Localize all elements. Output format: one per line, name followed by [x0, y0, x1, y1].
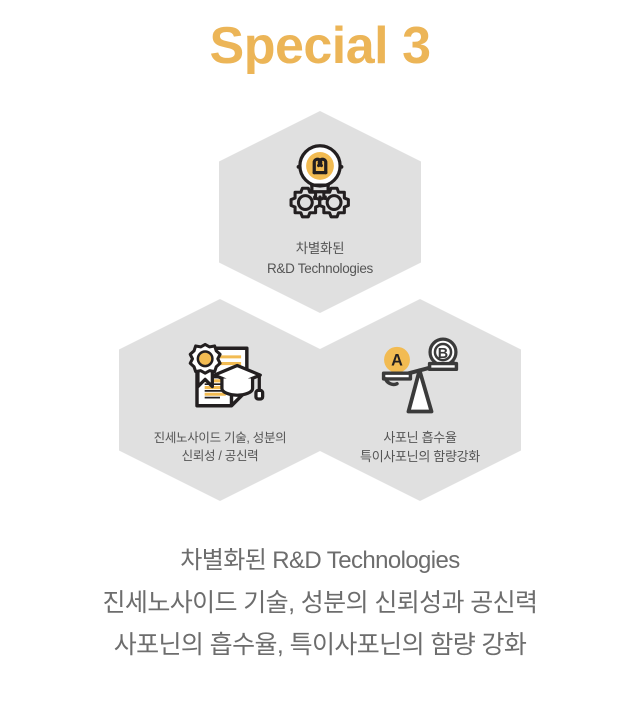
svg-text:B: B [438, 346, 448, 362]
hexagon-label-saponin: 사포닌 흡수율 특이사포닌의 함량강화 [325, 429, 515, 467]
caption-line-2: 진세노사이드 기술, 성분의 신뢰성과 공신력 [0, 582, 640, 624]
hexagon-card-ginsenoside[interactable]: 진세노사이드 기술, 성분의 신뢰성 / 공신력 [119, 299, 321, 501]
hexagon-card-saponin[interactable]: A B 사포닌 흡수율 특이사포닌의 함량강화 [319, 299, 521, 501]
certificate-graduation-cap-icon [172, 331, 268, 423]
svg-text:A: A [391, 352, 403, 370]
special-3-infographic: Special 3 [0, 0, 640, 722]
hexagon-label-ginsenoside: 진세노사이드 기술, 성분의 신뢰성 / 공신력 [125, 429, 315, 465]
caption-line-3: 사포닌의 흡수율, 특이사포닌의 함량 강화 [0, 624, 640, 666]
summary-caption: 차별화된 R&D Technologies 진세노사이드 기술, 성분의 신뢰성… [0, 540, 640, 666]
caption-line-1: 차별화된 R&D Technologies [0, 540, 640, 582]
hexagon-cluster: 차별화된 R&D Technologies [0, 0, 640, 520]
lightbulb-gears-icon [272, 141, 368, 233]
hexagon-label-rnd: 차별화된 R&D Technologies [225, 239, 415, 278]
balance-scale-ab-icon: A B [372, 331, 468, 423]
hexagon-card-rnd[interactable]: 차별화된 R&D Technologies [219, 111, 421, 313]
